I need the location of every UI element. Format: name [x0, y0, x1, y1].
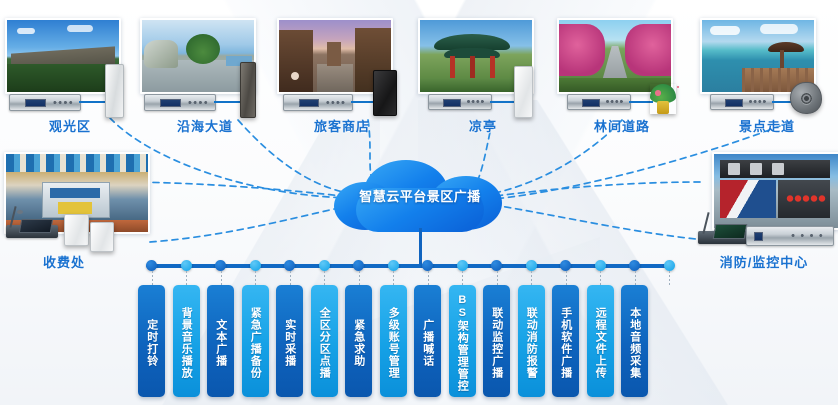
site-label-sightseeing: 观光区	[5, 116, 135, 135]
diagram-canvas: 观光区 沿海大道 旅客商店	[0, 0, 838, 405]
feature-label: 背景音乐播放	[180, 307, 193, 379]
site-card-toll-booth[interactable]: 收费处	[4, 152, 154, 272]
drop-line-1	[152, 271, 153, 285]
bus-dot-12	[526, 260, 537, 271]
drop-line-7	[359, 271, 360, 285]
site-photo-forest-road	[557, 18, 673, 94]
site-label-coastal-road: 沿海大道	[140, 116, 270, 135]
site-label-pavilion: 凉亭	[418, 116, 548, 135]
speaker-wall-toll-booth-1	[64, 214, 89, 246]
feature-box-8[interactable]: 多级账号管理	[380, 285, 407, 397]
drop-line-5	[290, 271, 291, 285]
feature-label: 多级账号管理	[387, 307, 400, 379]
feature-label: 文本广播	[214, 319, 227, 367]
drop-line-16	[669, 271, 670, 285]
feature-box-12[interactable]: 联动消防报警	[518, 285, 545, 397]
bus-dot-7	[353, 260, 364, 271]
amplifier-scenic-walk	[710, 94, 774, 110]
site-label-toll-booth: 收费处	[4, 252, 124, 271]
drop-line-9	[428, 271, 429, 285]
bus-dot-1	[146, 260, 157, 271]
bus-dot-11	[491, 260, 502, 271]
cloud-stem-connector	[419, 228, 422, 266]
drop-line-14	[600, 271, 601, 285]
drop-line-12	[531, 271, 532, 285]
amplifier-forest-road	[567, 94, 631, 110]
site-card-forest-road[interactable]: 林间道路	[557, 18, 687, 133]
paging-console-toll-booth	[6, 214, 58, 238]
feature-box-11[interactable]: 联动监控广播	[483, 285, 510, 397]
bus-dot-3	[215, 260, 226, 271]
feature-label: 紧急广播备份	[249, 307, 262, 379]
feature-label: BS架构管理管控	[456, 294, 469, 392]
feature-box-15[interactable]: 本地音频采集	[621, 285, 648, 397]
drop-line-13	[566, 271, 567, 285]
site-label-tourist-shop: 旅客商店	[277, 116, 407, 135]
cable	[490, 101, 516, 103]
bus-dot-10	[457, 260, 468, 271]
feature-box-10[interactable]: BS架构管理管控	[449, 285, 476, 397]
site-card-control-center[interactable]: 消防/监控中心	[690, 152, 838, 272]
bus-dot-13	[560, 260, 571, 271]
speaker-wall-toll-booth-2	[90, 222, 114, 252]
feature-box-9[interactable]: 广播喊话	[414, 285, 441, 397]
feature-box-5[interactable]: 实时采播	[276, 285, 303, 397]
drop-line-8	[393, 271, 394, 285]
drop-line-15	[635, 271, 636, 285]
feature-box-4[interactable]: 紧急广播备份	[242, 285, 269, 397]
amplifier-coastal-road	[144, 94, 216, 111]
drop-line-3	[221, 271, 222, 285]
speaker-wall-pavilion	[514, 66, 533, 118]
speaker-column-sightseeing	[105, 64, 124, 118]
bus-dot-5	[284, 260, 295, 271]
bus-dot-9	[422, 260, 433, 271]
feature-label: 广播喊话	[421, 319, 434, 367]
drop-line-10	[462, 271, 463, 285]
bus-dot-8	[388, 260, 399, 271]
bus-dot-16	[664, 260, 675, 271]
site-card-pavilion[interactable]: 凉亭	[418, 18, 548, 133]
cloud-platform-node[interactable]: 智慧云平台景区广播	[334, 160, 506, 234]
speaker-box-tourist-shop	[373, 70, 397, 116]
feature-label: 实时采播	[283, 319, 296, 367]
feature-label: 远程文件上传	[594, 307, 607, 379]
drop-line-11	[497, 271, 498, 285]
site-card-tourist-shop[interactable]: 旅客商店	[277, 18, 407, 133]
bus-dot-14	[595, 260, 606, 271]
paging-console-control-center	[698, 218, 752, 244]
site-photo-sightseeing	[5, 18, 121, 94]
site-label-scenic-walk: 景点走道	[700, 116, 834, 135]
feature-label: 全区分区点播	[318, 307, 331, 379]
cable	[772, 101, 792, 103]
site-label-control-center: 消防/监控中心	[690, 252, 838, 271]
site-card-sightseeing[interactable]: 观光区	[5, 18, 135, 133]
bus-dot-2	[181, 260, 192, 271]
amplifier-tourist-shop	[283, 94, 353, 111]
amplifier-pavilion	[428, 94, 492, 110]
amplifier-sightseeing	[9, 94, 81, 111]
speaker-mushroom-forest-road	[650, 84, 676, 114]
bus-dot-6	[319, 260, 330, 271]
feature-box-3[interactable]: 文本广播	[207, 285, 234, 397]
rack-device-control-center	[746, 226, 834, 246]
feature-box-2[interactable]: 背景音乐播放	[173, 285, 200, 397]
bus-dot-15	[629, 260, 640, 271]
speaker-rock-scenic-walk	[790, 82, 822, 114]
feature-box-7[interactable]: 紧急求助	[345, 285, 372, 397]
site-card-coastal-road[interactable]: 沿海大道	[140, 18, 270, 133]
feature-label: 手机软件广播	[559, 307, 572, 379]
feature-label: 定时打铃	[145, 319, 158, 367]
feature-box-13[interactable]: 手机软件广播	[552, 285, 579, 397]
feature-label: 本地音频采集	[628, 307, 641, 379]
feature-box-14[interactable]: 远程文件上传	[587, 285, 614, 397]
bus-dot-4	[250, 260, 261, 271]
site-photo-coastal-road	[140, 18, 256, 94]
speaker-column-coastal-road	[240, 62, 256, 118]
drop-line-6	[324, 271, 325, 285]
drop-line-4	[255, 271, 256, 285]
site-label-forest-road: 林间道路	[557, 116, 687, 135]
feature-box-1[interactable]: 定时打铃	[138, 285, 165, 397]
feature-label: 紧急求助	[352, 319, 365, 367]
cloud-label: 智慧云平台景区广播	[334, 186, 506, 205]
site-card-scenic-walk[interactable]: 景点走道	[700, 18, 834, 133]
feature-label: 联动消防报警	[525, 307, 538, 379]
feature-box-6[interactable]: 全区分区点播	[311, 285, 338, 397]
feature-label: 联动监控广播	[490, 307, 503, 379]
drop-line-2	[186, 271, 187, 285]
